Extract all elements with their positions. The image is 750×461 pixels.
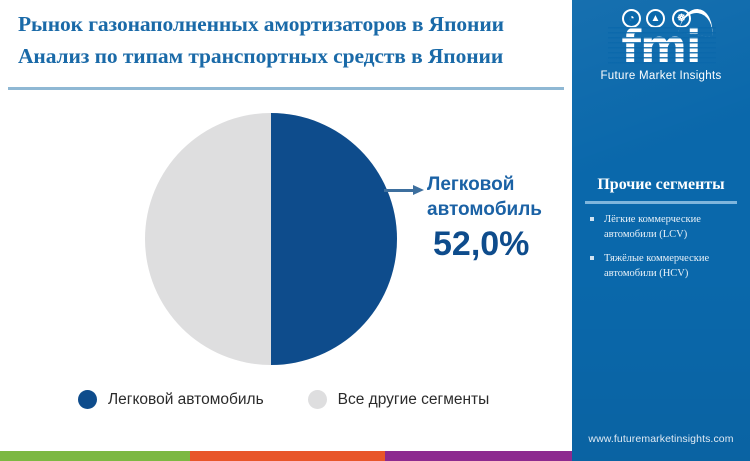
chart-legend: Легковой автомобиль Все другие сегменты	[78, 390, 489, 409]
title-line-2: Анализ по типам транспортных средств в Я…	[18, 40, 566, 72]
list-item: Лёгкие коммерческие автомобили (LCV)	[586, 212, 742, 242]
legend-label: Все другие сегменты	[338, 391, 490, 409]
arrow-head	[413, 185, 424, 195]
bullet-icon	[590, 256, 594, 260]
color-bar-segment-green	[0, 451, 190, 461]
arrow-line	[384, 189, 414, 192]
page-title: Рынок газонаполненных амортизаторов в Яп…	[18, 8, 566, 72]
website-url[interactable]: www.futuremarketinsights.com	[572, 433, 750, 445]
panel-heading: Прочие сегменты	[572, 176, 750, 194]
logo-stripe-overlay	[608, 27, 716, 67]
pie-chart	[145, 113, 397, 365]
slide-canvas: Рынок газонаполненных амортизаторов в Яп…	[0, 0, 750, 461]
color-bar-segment-purple	[385, 451, 572, 461]
legend-label: Легковой автомобиль	[108, 391, 264, 409]
legend-swatch-icon	[78, 390, 97, 409]
list-item: Тяжёлые коммерческие автомобили (HCV)	[586, 251, 742, 281]
main-content-area: Рынок газонаполненных амортизаторов в Яп…	[0, 0, 572, 461]
legend-item-other-segments[interactable]: Все другие сегменты	[308, 390, 490, 409]
legend-swatch-icon	[308, 390, 327, 409]
side-panel: ◔ ▲ ☸ fmi Future Market Insights Прочие …	[572, 0, 750, 461]
callout-value: 52,0%	[433, 224, 567, 264]
pie-circle	[145, 113, 397, 365]
legend-item-passenger-car[interactable]: Легковой автомобиль	[78, 390, 264, 409]
list-item-label: Тяжёлые коммерческие автомобили (HCV)	[604, 253, 709, 279]
list-item-label: Лёгкие коммерческие автомобили (LCV)	[604, 214, 701, 240]
other-segments-list: Лёгкие коммерческие автомобили (LCV) Тяж…	[586, 212, 742, 290]
pie-slice-passenger-car[interactable]	[271, 113, 397, 365]
title-divider	[8, 87, 564, 90]
bottom-color-bar	[0, 451, 572, 461]
logo-tagline: Future Market Insights	[572, 70, 750, 82]
fmi-logo[interactable]: ◔ ▲ ☸ fmi Future Market Insights	[572, 6, 750, 90]
callout-label-line-2: автомобиль	[427, 197, 567, 222]
title-line-1: Рынок газонаполненных амортизаторов в Яп…	[18, 8, 566, 40]
panel-heading-rule	[585, 201, 737, 204]
callout-arrow-icon	[384, 185, 424, 196]
bullet-icon	[590, 217, 594, 221]
callout-label-line-1: Легковой	[427, 172, 567, 197]
color-bar-segment-orange	[190, 451, 385, 461]
pie-callout: Легковой автомобиль 52,0%	[427, 172, 567, 264]
